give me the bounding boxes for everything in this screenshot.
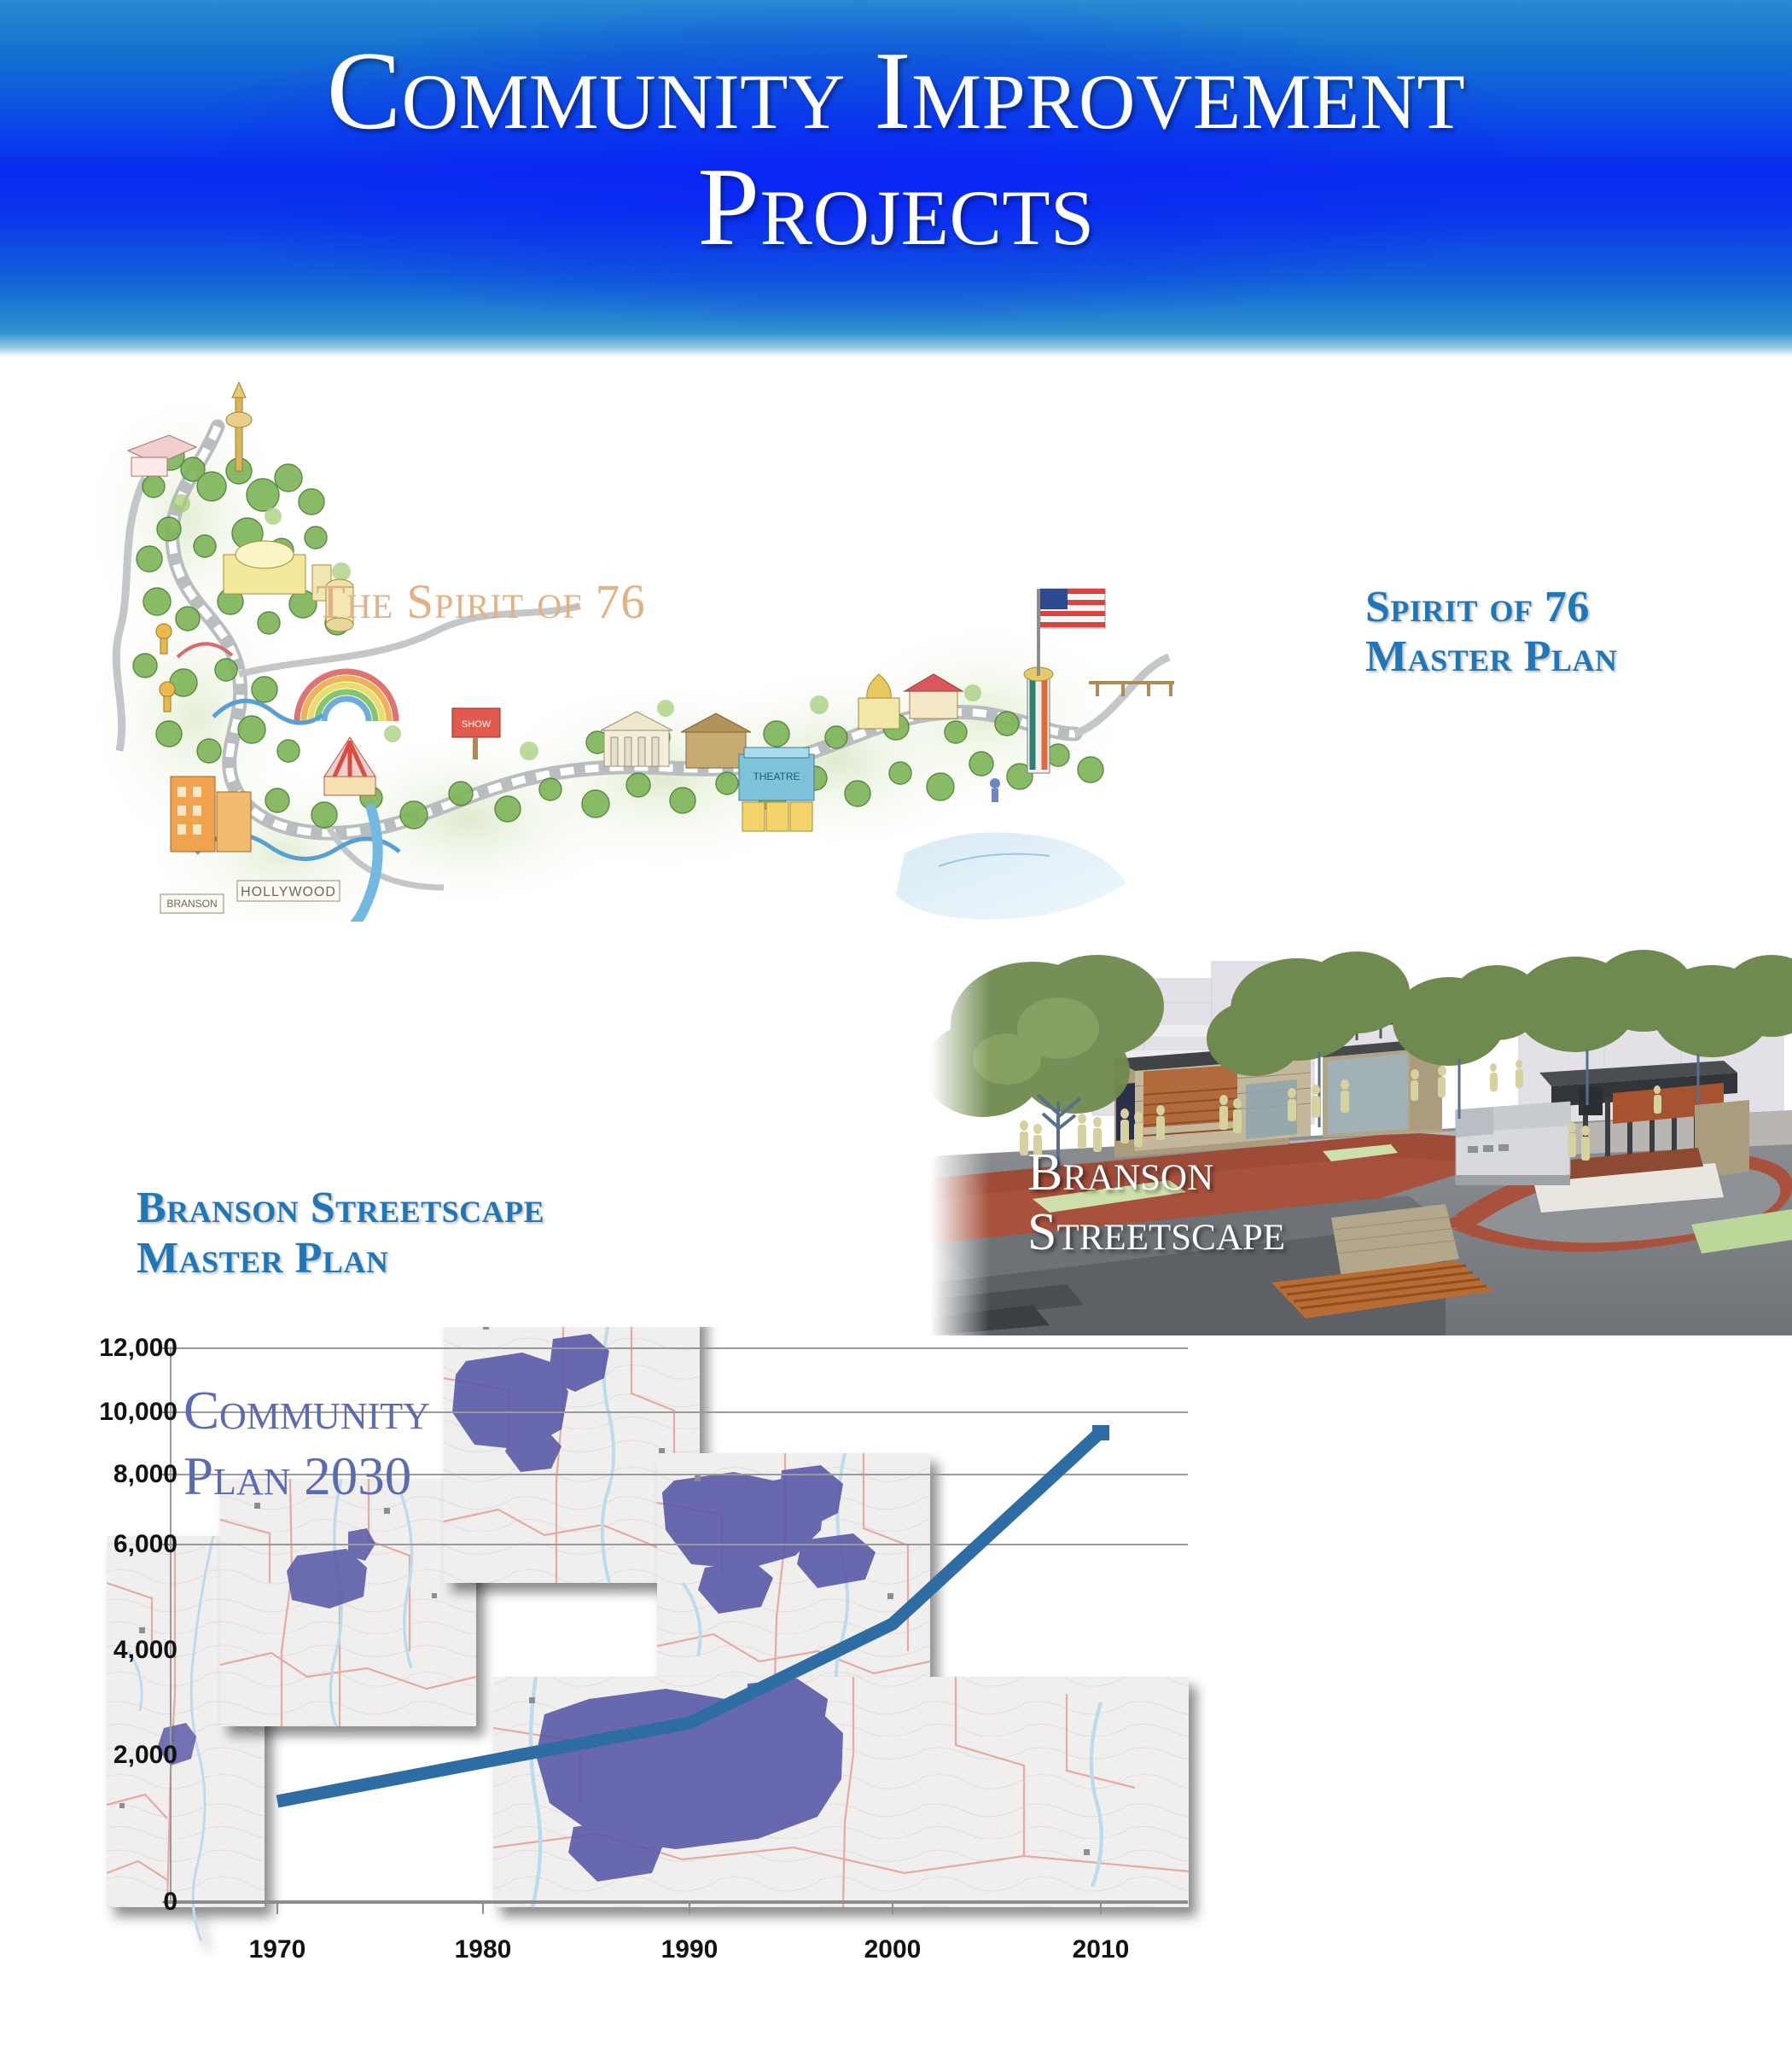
x-tick-1990: 1990 <box>613 1935 766 1964</box>
y-tick-10000: 10,000 <box>0 1398 177 1427</box>
y-tick-8000: 8,000 <box>0 1460 177 1489</box>
chart-caption-line-1: Community <box>183 1378 430 1444</box>
x-tick-2000: 2000 <box>816 1935 969 1964</box>
page-title: Community Improvement Projects <box>0 38 1792 261</box>
y-tick-4000: 4,000 <box>0 1636 177 1665</box>
spirit-of-76-figure: HOLLYWOOD BRANSON SHOW <box>68 375 1280 922</box>
streetscape-overlay-line-2: Streetscape <box>1027 1202 1505 1262</box>
branson-streetscape-figure: Branson Streetscape <box>930 943 1792 1335</box>
spirit-label-line-2: Master Plan <box>1365 632 1617 682</box>
svg-text:HOLLYWOOD: HOLLYWOOD <box>241 885 336 899</box>
chart-caption-line-2: Plan 2030 <box>183 1444 430 1510</box>
x-tick-2010: 2010 <box>1024 1935 1178 1964</box>
svg-text:SHOW: SHOW <box>462 719 492 730</box>
community-plan-2030-caption: Community Plan 2030 <box>183 1378 430 1510</box>
branson-streetscape-master-plan-label: Branson Streetscape Master Plan <box>137 1183 544 1284</box>
spirit-of-76-birdseye-illustration: HOLLYWOOD BRANSON SHOW <box>68 375 1280 922</box>
y-tick-0: 0 <box>0 1888 177 1917</box>
map-tile-2010 <box>493 1677 1189 1907</box>
svg-text:BRANSON: BRANSON <box>166 898 217 910</box>
y-tick-12000: 12,000 <box>0 1334 177 1363</box>
map-tile-1980 <box>220 1479 476 1726</box>
spirit-of-76-master-plan-label: Spirit of 76 Master Plan <box>1365 583 1617 682</box>
x-tick-1980: 1980 <box>406 1935 560 1964</box>
streetscape-label-line-1: Branson Streetscape <box>137 1183 544 1233</box>
page-title-line-1: Community Improvement <box>0 38 1792 145</box>
svg-text:THEATRE: THEATRE <box>753 771 800 783</box>
spirit-label-line-1: Spirit of 76 <box>1365 583 1617 632</box>
branson-streetscape-overlay-caption: Branson Streetscape <box>1027 1143 1505 1262</box>
x-tick-1970: 1970 <box>201 1935 354 1964</box>
y-tick-6000: 6,000 <box>0 1530 177 1559</box>
page-title-line-2: Projects <box>0 154 1792 261</box>
y-tick-2000: 2,000 <box>0 1741 177 1770</box>
branson-streetscape-3d-rendering <box>930 943 1792 1335</box>
spirit-of-76-illustration-caption: The Spirit of 76 <box>316 574 646 630</box>
streetscape-overlay-line-1: Branson <box>1027 1143 1505 1202</box>
streetscape-label-line-2: Master Plan <box>137 1233 544 1283</box>
